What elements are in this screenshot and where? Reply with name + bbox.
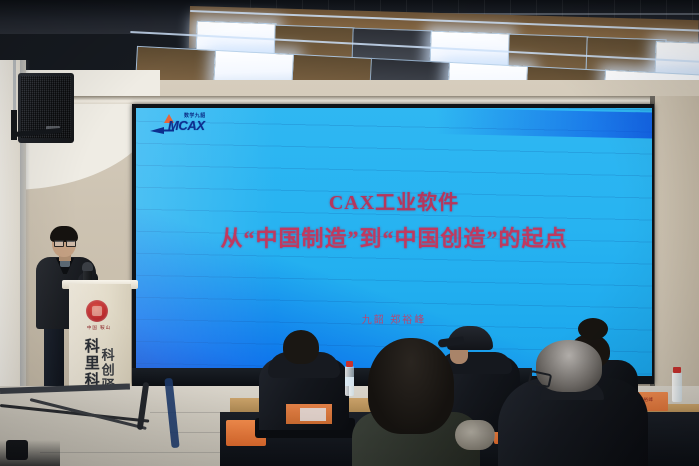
- foreground-shadow: [0, 440, 60, 466]
- microphone-head: [82, 262, 93, 271]
- slide-title-line-2: 从“中国制造”到“中国创造”的起点: [136, 221, 652, 253]
- mcax-logo: 数学九韶 MCAX: [150, 112, 240, 138]
- presenter-glasses-right-lens: [66, 240, 76, 247]
- wall-top-trim: [0, 96, 699, 104]
- water-bottle-label: [345, 377, 354, 386]
- presenter-glasses-left-lens: [54, 240, 64, 247]
- loudspeaker-cable: [13, 60, 16, 115]
- attendee-long-hair: [368, 338, 454, 434]
- attendee-fur-collar: [455, 420, 495, 450]
- slide-presenter-name: 九韶 郑裕峰: [136, 311, 652, 326]
- water-bottle-right-cap: [673, 367, 681, 373]
- presentation-photo-scene: 数学九韶 MCAX CAX工业软件 从“中国制造”到“中国创造”的起点 九韶 郑…: [0, 0, 699, 466]
- logo-wordmark: MCAX: [168, 118, 205, 133]
- podium-emblem-caption: 中国 鞍山: [84, 325, 114, 332]
- attendee-head: [283, 330, 319, 364]
- slide-title-line-1: CAX工业软件: [136, 186, 652, 215]
- attendee-hair-bun: [578, 318, 608, 340]
- water-bottle-right: [672, 372, 682, 402]
- slide-title-block: CAX工业软件 从“中国制造”到“中国创造”的起点: [136, 186, 652, 253]
- water-bottle-cap: [346, 361, 353, 367]
- podium-emblem-inner-mark: [92, 306, 102, 316]
- name-placard-center-paper: [300, 408, 326, 421]
